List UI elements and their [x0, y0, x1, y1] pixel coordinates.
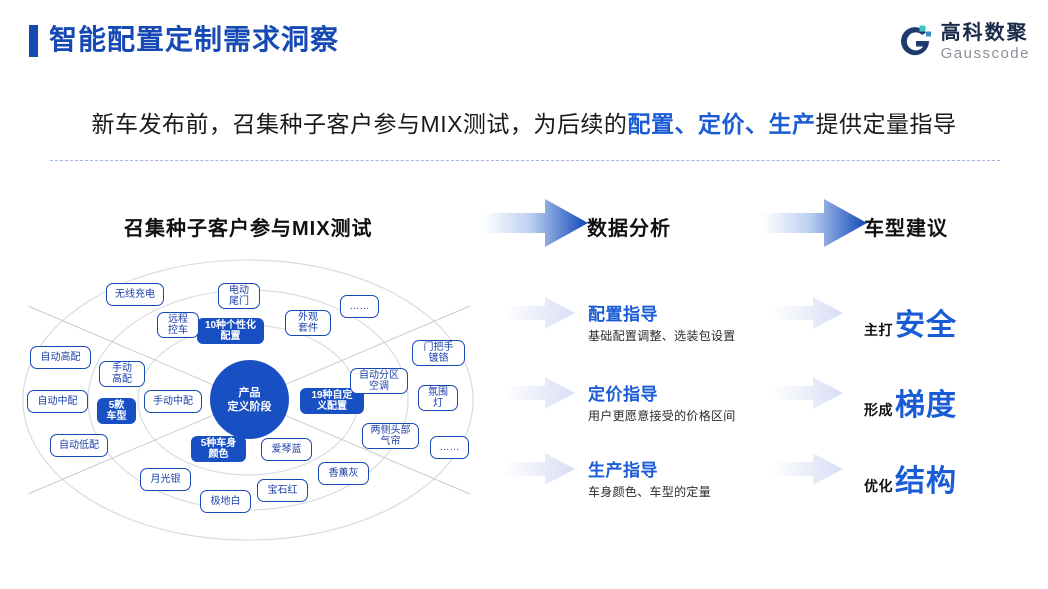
row-title-configuration: 配置指导 — [588, 300, 658, 325]
row-arrow-2-icon — [503, 376, 575, 410]
row-output-production: 优化 结构 — [864, 456, 957, 500]
row-output-pricing: 形成 梯度 — [864, 380, 957, 424]
mindmap-node-chrome-handle[interactable]: 门把手 镀铬 — [412, 340, 465, 366]
row-sub-configuration: 基础配置调整、选装包设置 — [588, 327, 736, 344]
slide-header: 智能配置定制需求洞察 高科数聚 Gausscode — [0, 0, 1048, 78]
mindmap-node-auto-high[interactable]: 自动高配 — [30, 346, 91, 369]
row-arrow-1-icon — [503, 296, 575, 330]
mindmap-group-colors[interactable]: 5种车身 颜色 — [191, 436, 246, 462]
gausscode-logo-icon — [896, 22, 934, 60]
row-arrow-1b-icon — [771, 296, 843, 330]
mindmap-node-auto-low[interactable]: 自动低配 — [50, 434, 108, 457]
mindmap-hub: 产品 定义阶段 — [210, 360, 289, 439]
subtitle-part1: 新车发布前，召集种子客户参与MIX测试，为后续的 — [92, 111, 628, 137]
mindmap-node-ambient-light[interactable]: 氛围 灯 — [418, 385, 458, 411]
mindmap-node-side-curtain-airbag[interactable]: 两侧头部 气帘 — [362, 423, 419, 449]
column-header-recommendation: 车型建议 — [864, 212, 948, 241]
section-divider — [50, 160, 1000, 161]
mindmap-group-personalized[interactable]: 10种个性化 配置 — [197, 318, 264, 344]
mindmap-node-polar-white[interactable]: 极地白 — [200, 490, 251, 513]
row-output-prefix-2: 形成 — [864, 400, 893, 420]
subtitle: 新车发布前，召集种子客户参与MIX测试，为后续的配置、定价、生产提供定量指导 — [0, 105, 1048, 139]
row-arrow-3b-icon — [771, 452, 843, 486]
brand-logo: 高科数聚 Gausscode — [896, 22, 1030, 62]
subtitle-part2: 提供定量指导 — [815, 111, 956, 137]
mindmap-node-ellipsis-right[interactable]: …… — [430, 436, 469, 459]
mindmap-node-ruby-red[interactable]: 宝石红 — [257, 479, 308, 502]
mindmap-node-aegean-blue[interactable]: 爱琴蓝 — [261, 438, 312, 461]
page-title: 智能配置定制需求洞察 — [49, 23, 339, 57]
mindmap-node-remote-control[interactable]: 远程 控车 — [157, 312, 199, 338]
row-title-pricing: 定价指导 — [588, 380, 658, 405]
column-header-analysis: 数据分析 — [587, 212, 671, 241]
mindmap-node-wireless-charging[interactable]: 无线充电 — [106, 283, 164, 306]
row-arrow-3-icon — [503, 452, 575, 486]
flow-arrow-2-icon — [762, 197, 867, 249]
row-output-configuration: 主打 安全 — [864, 300, 957, 344]
title-accent-bar — [29, 25, 38, 57]
slide: 智能配置定制需求洞察 高科数聚 Gausscode 新车发布前，召集种子客户参与… — [0, 0, 1048, 589]
row-output-word-2: 梯度 — [895, 380, 957, 424]
flow-arrow-1-icon — [483, 197, 588, 249]
logo-text-cn: 高科数聚 — [941, 22, 1030, 44]
subtitle-highlight: 配置、定价、生产 — [627, 111, 815, 137]
column-header-collect: 召集种子客户参与MIX测试 — [124, 212, 373, 241]
row-output-prefix-1: 主打 — [864, 320, 893, 340]
row-arrow-2b-icon — [771, 376, 843, 410]
mindmap-node-manual-mid[interactable]: 手动中配 — [144, 390, 202, 413]
row-output-word-3: 结构 — [895, 456, 957, 500]
mindmap: 产品 定义阶段 10种个性化 配置 5款 车型 19种自定 义配置 5种车身 颜… — [20, 258, 500, 543]
logo-text-en: Gausscode — [941, 45, 1030, 62]
mindmap-node-aroma-grey[interactable]: 香薰灰 — [318, 462, 369, 485]
row-output-word-1: 安全 — [895, 300, 957, 344]
mindmap-node-moonlight-silver[interactable]: 月光银 — [140, 468, 191, 491]
mindmap-node-ellipsis-top[interactable]: …… — [340, 295, 379, 318]
row-title-production: 生产指导 — [588, 456, 658, 481]
row-output-prefix-3: 优化 — [864, 476, 893, 496]
mindmap-node-manual-high[interactable]: 手动 高配 — [99, 361, 145, 387]
mindmap-node-auto-mid[interactable]: 自动中配 — [27, 390, 88, 413]
row-sub-pricing: 用户更愿意接受的价格区间 — [588, 407, 736, 424]
mindmap-node-power-tailgate[interactable]: 电动 尾门 — [218, 283, 260, 309]
row-sub-production: 车身颜色、车型的定量 — [588, 483, 711, 500]
mindmap-node-auto-dual-ac[interactable]: 自动分区 空调 — [350, 368, 408, 394]
mindmap-node-exterior-kit[interactable]: 外观 套件 — [285, 310, 331, 336]
mindmap-group-models[interactable]: 5款 车型 — [97, 398, 136, 424]
